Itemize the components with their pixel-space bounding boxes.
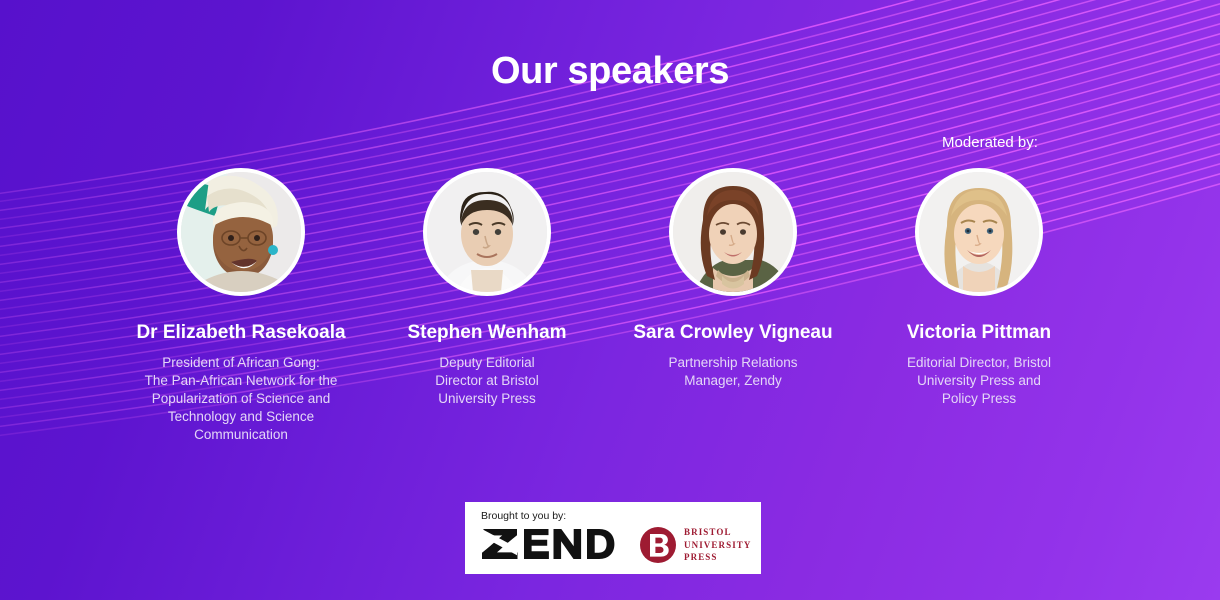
speaker-photo-sara-crowley-vigneau <box>669 168 797 296</box>
bristol-line-2: UNIVERSITY <box>684 539 752 551</box>
speaker-role: Partnership Relations Manager, Zendy <box>668 354 797 390</box>
bristol-press-wordmark: BRISTOL UNIVERSITY PRESS <box>684 526 752 563</box>
speaker-role: President of African Gong: The Pan-Afric… <box>145 354 338 444</box>
speakers-row: Dr Elizabeth Rasekoala President of Afri… <box>0 168 1220 444</box>
slide-canvas: Our speakers Moderated by: <box>0 0 1220 600</box>
page-title: Our speakers <box>0 50 1220 93</box>
moderated-by-label: Moderated by: <box>890 134 1090 151</box>
speaker-card-stephen-wenham: Stephen Wenham Deputy Editorial Director… <box>364 168 610 408</box>
speaker-name: Sara Crowley Vigneau <box>633 322 832 344</box>
bristol-line-3: PRESS <box>684 551 752 563</box>
brought-to-you-by-label: Brought to you by: <box>481 510 566 522</box>
speaker-card-sara-crowley-vigneau: Sara Crowley Vigneau Partnership Relatio… <box>610 168 856 390</box>
speaker-role: Deputy Editorial Director at Bristol Uni… <box>435 354 539 408</box>
speaker-role: Editorial Director, Bristol University P… <box>907 354 1051 408</box>
speaker-name: Stephen Wenham <box>407 322 566 344</box>
speaker-card-victoria-pittman: Victoria Pittman Editorial Director, Bri… <box>856 168 1102 408</box>
sponsor-card: Brought to you by: <box>465 502 761 574</box>
speaker-photo-stephen-wenham <box>423 168 551 296</box>
bristol-line-1: BRISTOL <box>684 526 752 538</box>
speaker-name: Dr Elizabeth Rasekoala <box>136 322 345 344</box>
bristol-university-press-logo: BRISTOL UNIVERSITY PRESS <box>639 526 752 564</box>
speaker-photo-victoria-pittman <box>915 168 1043 296</box>
speaker-photo-elizabeth-rasekoala <box>177 168 305 296</box>
sponsor-logos: BRISTOL UNIVERSITY PRESS <box>481 526 745 565</box>
speaker-name: Victoria Pittman <box>907 322 1051 344</box>
zendy-logo <box>481 526 617 565</box>
speaker-card-elizabeth-rasekoala: Dr Elizabeth Rasekoala President of Afri… <box>118 168 364 444</box>
